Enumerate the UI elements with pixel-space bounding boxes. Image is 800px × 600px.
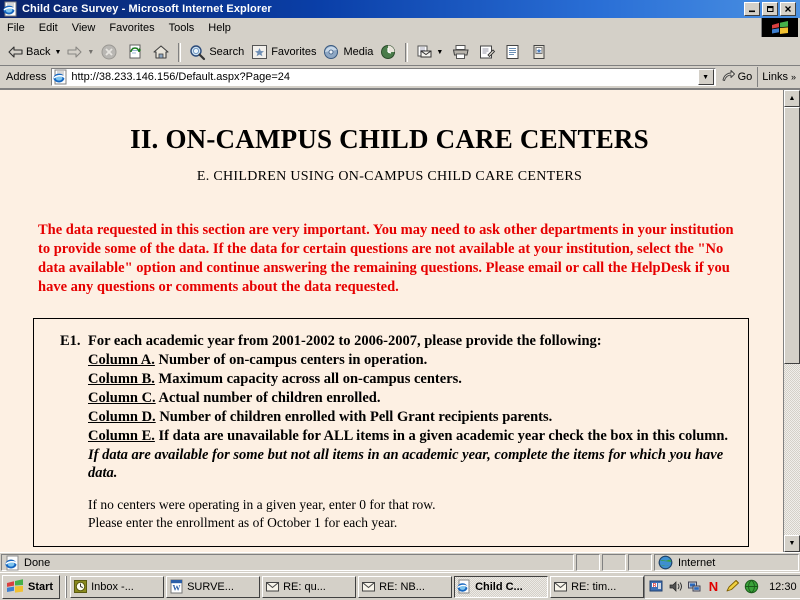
column-a-label: Column A. (88, 352, 155, 368)
ie-document-icon (3, 1, 19, 17)
note-line-2: Please enter the enrollment as of Octobe… (88, 514, 736, 532)
column-e-line: Column E. If data are unavailable for AL… (88, 427, 736, 484)
mail-icon (415, 43, 435, 61)
tray-norton-icon[interactable]: N (706, 579, 722, 595)
taskbar-button-survey[interactable]: W SURVE... (166, 576, 260, 598)
question-notes: If no centers were operating in a given … (88, 496, 736, 532)
tray-globe-icon[interactable] (744, 579, 760, 595)
maximize-button[interactable] (762, 2, 778, 16)
taskbar-button-re-nb[interactable]: RE: NB... (358, 576, 452, 598)
ie-page-icon (53, 69, 69, 85)
column-e-italic-text: If data are available for some but not a… (88, 447, 723, 482)
menu-item-help[interactable]: Help (201, 20, 238, 36)
printer-icon (451, 43, 471, 61)
favorites-star-icon (250, 43, 269, 61)
go-arrow-icon (720, 69, 736, 85)
forward-button[interactable] (63, 41, 86, 63)
taskbar-label: RE: tim... (571, 581, 616, 593)
messenger-icon (529, 43, 549, 61)
question-body: For each academic year from 2001-2002 to… (88, 333, 736, 532)
status-panel-4 (628, 554, 652, 571)
system-tray: R N (644, 575, 800, 599)
taskbar-button-child-care[interactable]: Child C... (454, 576, 548, 598)
refresh-icon (125, 43, 145, 61)
back-arrow-icon (7, 44, 24, 60)
column-e-label: Column E. (88, 428, 155, 444)
forward-arrow-icon (66, 44, 83, 60)
status-message-panel: Done (1, 554, 574, 571)
menu-bar: File Edit View Favorites Tools Help (0, 18, 800, 39)
back-dropdown-icon[interactable]: ▼ (54, 49, 61, 56)
media-button[interactable]: Media (319, 41, 376, 63)
taskbar-label: Child C... (475, 581, 523, 593)
close-button[interactable] (780, 2, 796, 16)
ie-icon (457, 579, 473, 595)
outlook-icon (73, 579, 89, 595)
menu-item-favorites[interactable]: Favorites (102, 20, 161, 36)
edit-button[interactable] (474, 41, 500, 63)
column-d-line: Column D. Number of children enrolled wi… (88, 408, 736, 427)
tray-volume-icon[interactable] (668, 579, 684, 595)
column-b-label: Column B. (88, 371, 155, 387)
menu-item-tools[interactable]: Tools (162, 20, 202, 36)
go-label: Go (738, 71, 753, 83)
taskbar-button-inbox[interactable]: Inbox -... (70, 576, 164, 598)
scroll-down-button[interactable]: ▼ (784, 535, 800, 552)
links-chevron-icon: » (791, 72, 796, 82)
mail-button[interactable]: ▼ (412, 41, 448, 63)
status-message: Done (24, 557, 50, 569)
scroll-thumb[interactable] (784, 107, 800, 364)
tray-fax-icon[interactable]: R (649, 579, 665, 595)
search-icon (188, 43, 207, 61)
menu-item-edit[interactable]: Edit (32, 20, 65, 36)
go-button[interactable]: Go (716, 69, 758, 85)
survey-document: II. ON-CAMPUS CHILD CARE CENTERS E. CHIL… (0, 124, 783, 547)
start-button[interactable]: Start (2, 575, 60, 599)
question-lead: For each academic year from 2001-2002 to… (88, 333, 736, 350)
scroll-track[interactable] (784, 107, 800, 535)
navigation-toolbar: Back ▼ ▼ (0, 39, 800, 66)
column-e-text: If data are unavailable for ALL items in… (159, 428, 729, 444)
favorites-button[interactable]: Favorites (247, 41, 319, 63)
taskbar-label: RE: NB... (379, 581, 425, 593)
security-zone-label: Internet (678, 557, 715, 569)
back-label: Back (26, 46, 50, 58)
forward-dropdown-icon[interactable]: ▼ (87, 49, 94, 56)
svg-text:W: W (173, 583, 181, 592)
browser-window: Child Care Survey - Microsoft Internet E… (0, 0, 800, 600)
media-label: Media (343, 46, 373, 58)
links-label: Links (762, 71, 788, 83)
discuss-button[interactable] (500, 41, 526, 63)
mail-icon (361, 579, 377, 595)
mail-icon (553, 579, 569, 595)
address-dropdown-button[interactable]: ▼ (698, 69, 714, 85)
media-icon (322, 43, 341, 61)
minimize-button[interactable] (744, 2, 760, 16)
search-button[interactable]: Search (185, 41, 247, 63)
messenger-button[interactable] (526, 41, 552, 63)
column-c-text: Actual number of children enrolled. (159, 390, 381, 406)
stop-icon (99, 43, 119, 61)
favorites-label: Favorites (271, 46, 316, 58)
column-b-text: Maximum capacity across all on-campus ce… (159, 371, 462, 387)
column-d-text: Number of children enrolled with Pell Gr… (159, 409, 552, 425)
tray-pencil-icon[interactable] (725, 579, 741, 595)
column-a-text: Number of on-campus centers in operation… (159, 352, 428, 368)
discuss-icon (503, 43, 523, 61)
back-button[interactable]: Back (4, 41, 53, 63)
page-subtitle: E. CHILDREN USING ON-CAMPUS CHILD CARE C… (36, 169, 743, 185)
note-line-1: If no centers were operating in a given … (88, 496, 736, 514)
column-d-label: Column D. (88, 409, 156, 425)
taskbar-button-re-tim[interactable]: RE: tim... (550, 576, 644, 598)
title-bar: Child Care Survey - Microsoft Internet E… (0, 0, 800, 18)
svg-text:R: R (653, 582, 657, 588)
important-notice: The data requested in this section are v… (38, 221, 737, 296)
status-panel-3 (602, 554, 626, 571)
home-icon (151, 43, 171, 61)
window-controls (744, 2, 798, 16)
taskbar-label: Inbox -... (91, 581, 134, 593)
word-icon: W (169, 579, 185, 595)
taskbar-buttons: Inbox -... W SURVE... (70, 576, 644, 598)
home-button[interactable] (148, 41, 174, 63)
column-c-label: Column C. (88, 390, 156, 406)
print-button[interactable] (448, 41, 474, 63)
column-c-line: Column C. Actual number of children enro… (88, 389, 736, 408)
toolbar-separator-2 (405, 43, 408, 62)
taskbar-button-re-qu[interactable]: RE: qu... (262, 576, 356, 598)
stop-button[interactable] (96, 41, 122, 63)
refresh-button[interactable] (122, 41, 148, 63)
security-zone-panel: Internet (654, 554, 799, 571)
system-clock[interactable]: 12:30 PM (769, 581, 800, 593)
address-label: Address (4, 71, 51, 83)
search-label: Search (209, 46, 244, 58)
question-number: E1. (48, 333, 88, 350)
toolbar-separator-1 (178, 43, 181, 62)
menu-item-file[interactable]: File (0, 20, 32, 36)
scroll-up-button[interactable]: ▲ (784, 90, 800, 107)
address-value: http://38.233.146.156/Default.aspx?Page=… (71, 71, 290, 83)
globe-icon (658, 555, 674, 571)
vertical-scrollbar[interactable]: ▲ ▼ (783, 90, 800, 552)
svg-text:N: N (709, 579, 718, 594)
history-button[interactable] (376, 41, 401, 63)
tray-network-icon[interactable] (687, 579, 703, 595)
mail-icon (265, 579, 281, 595)
question-e1-box: E1. For each academic year from 2001-200… (33, 318, 749, 547)
links-button[interactable]: Links » (757, 67, 800, 87)
ie-status-icon (5, 555, 21, 571)
windows-flag-logo (761, 18, 798, 37)
taskbar-grip[interactable] (65, 576, 67, 598)
taskbar-label: RE: qu... (283, 581, 326, 593)
status-bar: Done Internet (0, 552, 800, 572)
taskbar-label: SURVE... (187, 581, 234, 593)
window-title: Child Care Survey - Microsoft Internet E… (22, 3, 272, 15)
column-a-line: Column A. Number of on-campus centers in… (88, 351, 736, 370)
page-viewport: II. ON-CAMPUS CHILD CARE CENTERS E. CHIL… (0, 89, 800, 552)
address-bar: Address http://38.233.146.156/Default.as… (0, 66, 800, 89)
menu-item-view[interactable]: View (65, 20, 103, 36)
page-title: II. ON-CAMPUS CHILD CARE CENTERS (36, 124, 743, 155)
mail-dropdown-icon[interactable]: ▼ (436, 49, 443, 56)
start-label: Start (28, 581, 53, 593)
taskbar: Start Inbox -... (0, 572, 800, 600)
windows-start-icon (6, 578, 25, 596)
status-panel-2 (576, 554, 600, 571)
edit-page-icon (477, 43, 497, 61)
question-e1-row: E1. For each academic year from 2001-200… (48, 333, 736, 532)
address-input[interactable]: http://38.233.146.156/Default.aspx?Page=… (51, 68, 715, 86)
column-b-line: Column B. Maximum capacity across all on… (88, 370, 736, 389)
history-clock-icon (379, 43, 398, 61)
document-body: II. ON-CAMPUS CHILD CARE CENTERS E. CHIL… (0, 90, 783, 552)
